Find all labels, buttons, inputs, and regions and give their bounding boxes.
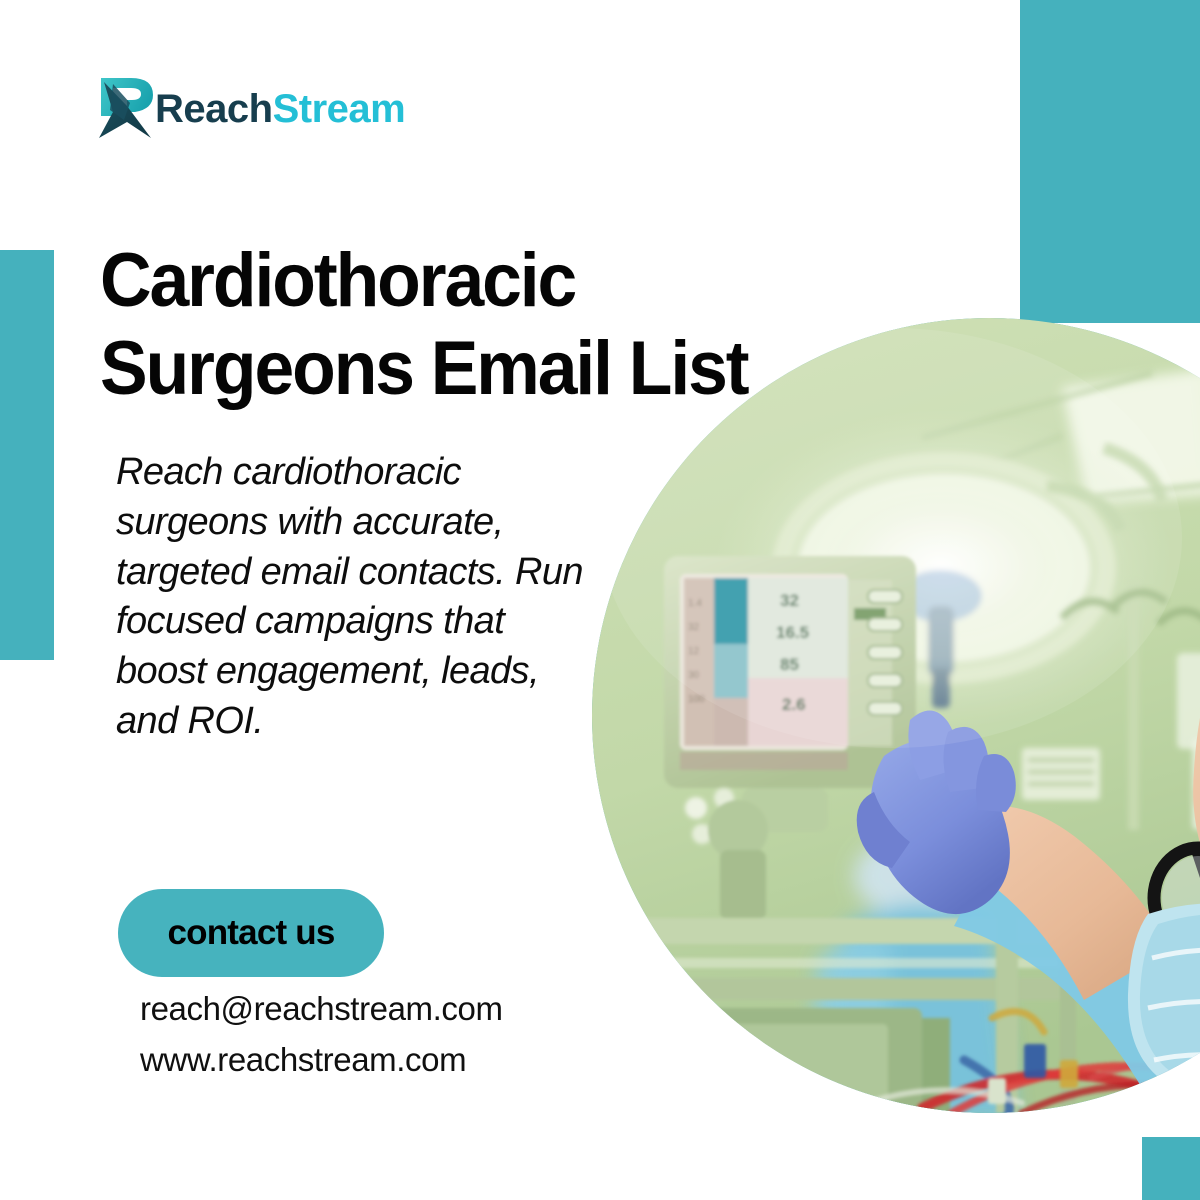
contact-us-button[interactable]: contact us [118, 889, 384, 977]
page-title: Cardiothoracic Surgeons Email List [100, 237, 843, 413]
decorative-topright-teal-block [1020, 0, 1200, 323]
logo-text-reach: Reach [155, 87, 273, 131]
decorative-left-teal-bar [0, 250, 54, 660]
decorative-bottomright-teal-square [1142, 1137, 1200, 1200]
headline-line-2: Surgeons Email List [100, 326, 747, 411]
logo-wordmark: ReachStream [155, 89, 405, 129]
operating-room-photo: 32 16.5 85 2.6 1.432 1230 100 [592, 318, 1200, 1113]
reachstream-logo[interactable]: ReachStream [97, 76, 411, 140]
reachstream-r-mark-icon [97, 76, 159, 140]
subcopy-text: Reach cardiothoracic surgeons with accur… [116, 448, 586, 747]
headline-line-1: Cardiothoracic [100, 238, 575, 323]
marketing-poster: 32 16.5 85 2.6 1.432 1230 100 [0, 0, 1200, 1200]
contact-email[interactable]: reach@reachstream.com [140, 990, 503, 1028]
hero-photo-circle: 32 16.5 85 2.6 1.432 1230 100 [592, 318, 1200, 1113]
logo-text-stream: Stream [273, 87, 406, 131]
contact-website[interactable]: www.reachstream.com [140, 1041, 466, 1079]
